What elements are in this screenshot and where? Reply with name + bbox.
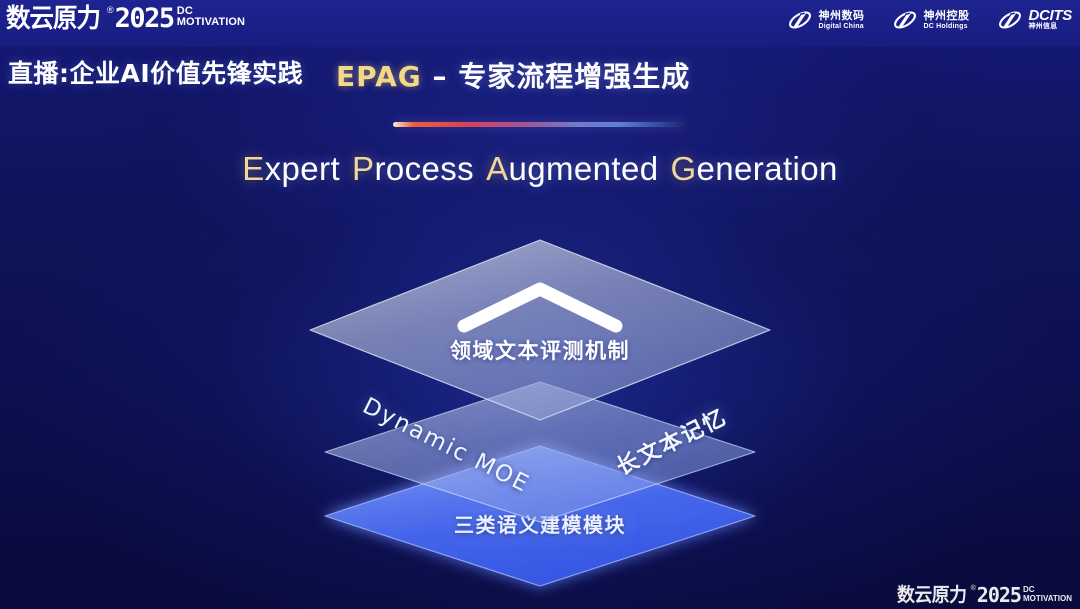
swoosh-icon bbox=[997, 7, 1023, 33]
slide-main-title: EPAG – 专家流程增强生成 bbox=[336, 55, 690, 95]
partner-cn-digital-china: 神州数码 bbox=[818, 10, 864, 22]
watermark-registered: ® bbox=[971, 584, 976, 593]
main-title-chinese: 专家流程增强生成 bbox=[458, 60, 690, 93]
watermark-motivation: MOTIVATION bbox=[1023, 594, 1072, 603]
partner-label-dcits: DCITS 神州信息 bbox=[1028, 10, 1072, 31]
brand-logo-motivation: MOTIVATION bbox=[177, 16, 245, 28]
stack-layer-top: 领域文本评测机制 bbox=[300, 228, 780, 558]
brand-logo: 数云原力 ® 2025 DC MOTIVATION bbox=[6, 4, 245, 34]
partner-cn-dc-holdings: 神州控股 bbox=[923, 10, 969, 22]
main-title-separator: – bbox=[422, 60, 459, 93]
partner-label-digital-china: 神州数码 Digital China bbox=[818, 10, 864, 31]
watermark-year: 2025 bbox=[977, 584, 1021, 606]
partner-cn-dcits: DCITS bbox=[1028, 10, 1072, 22]
english-rest-expert: xpert bbox=[265, 150, 340, 187]
brand-logo-dc: DC bbox=[177, 6, 245, 16]
slide-canvas: 数云原力 ® 2025 DC MOTIVATION 神州数码 bbox=[0, 0, 1080, 609]
header-band: 数云原力 ® 2025 DC MOTIVATION 神州数码 bbox=[0, 0, 1080, 47]
english-title-line: ExpertProcessAugmentedGeneration bbox=[0, 150, 1080, 188]
watermark-dc: DC bbox=[1023, 586, 1072, 594]
partner-logo-dc-holdings: 神州控股 DC Holdings bbox=[892, 7, 969, 33]
partner-logo-dcits: DCITS 神州信息 bbox=[997, 7, 1072, 33]
gradient-divider bbox=[393, 122, 684, 127]
main-title-acronym: EPAG bbox=[336, 60, 422, 93]
partner-en-digital-china: Digital China bbox=[818, 22, 864, 31]
partner-en-dc-holdings: DC Holdings bbox=[923, 22, 969, 31]
swoosh-icon bbox=[787, 7, 813, 33]
english-rest-generation: eneration bbox=[697, 150, 838, 187]
english-cap-p: P bbox=[352, 150, 374, 187]
live-broadcast-title: 直播:企业AI价值先锋实践 bbox=[8, 54, 303, 90]
english-cap-e: E bbox=[242, 150, 264, 187]
swoosh-icon bbox=[892, 7, 918, 33]
partner-logo-group: 神州数码 Digital China 神州控股 DC Holdings bbox=[787, 7, 1072, 33]
partner-logo-digital-china: 神州数码 Digital China bbox=[787, 7, 864, 33]
english-rest-augmented: ugmented bbox=[508, 150, 658, 187]
watermark-logo: 数云原力 ® 2025 DC MOTIVATION bbox=[897, 584, 1072, 606]
layer-stack-diagram: 三类语义建模模块 Dynamic MOE 长文本记忆 bbox=[300, 228, 780, 558]
brand-logo-dcm: DC MOTIVATION bbox=[177, 6, 245, 28]
chevron-up-icon bbox=[450, 276, 630, 338]
english-cap-g: G bbox=[670, 150, 696, 187]
watermark-cn: 数云原力 bbox=[897, 584, 967, 606]
partner-label-dc-holdings: 神州控股 DC Holdings bbox=[923, 10, 969, 31]
brand-logo-year: 2025 bbox=[115, 4, 174, 33]
partner-en-dcits: 神州信息 bbox=[1028, 22, 1072, 31]
brand-logo-registered: ® bbox=[107, 4, 114, 16]
english-cap-a: A bbox=[486, 150, 508, 187]
watermark-dcm: DC MOTIVATION bbox=[1023, 586, 1072, 603]
english-rest-process: rocess bbox=[374, 150, 474, 187]
brand-logo-cn: 数云原力 bbox=[6, 4, 100, 34]
